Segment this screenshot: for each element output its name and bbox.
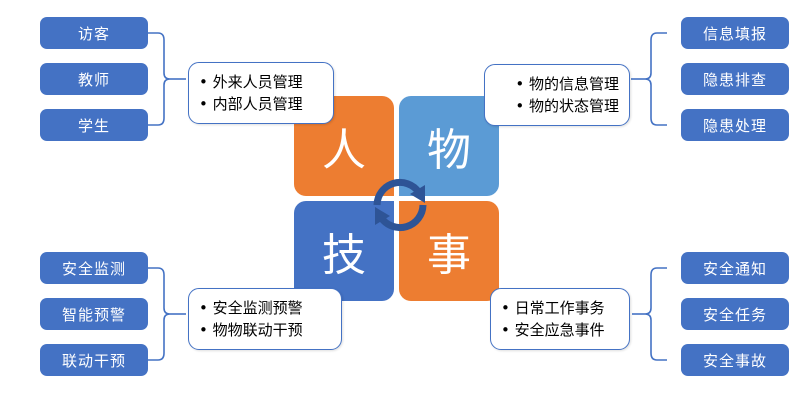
bullet-icon: • xyxy=(199,299,208,317)
button-visitor[interactable]: 访客 xyxy=(40,17,148,49)
callout-ji: • 安全监测预警 • 物物联动干预 xyxy=(188,288,342,350)
bullet-icon: • xyxy=(515,97,524,115)
callout-ren-text-1: 外来人员管理 xyxy=(213,73,303,91)
callout-ji-item-1: • 安全监测预警 xyxy=(199,298,331,320)
button-hazard-inspection[interactable]: 隐患排查 xyxy=(681,63,789,95)
bullet-icon: • xyxy=(501,299,510,317)
button-info-report[interactable]: 信息填报 xyxy=(681,17,789,49)
tile-ren-label: 人 xyxy=(322,114,366,178)
bullet-icon: • xyxy=(199,95,208,113)
callout-ren-item-1: • 外来人员管理 xyxy=(199,72,323,94)
callout-shi-item-1: • 日常工作事务 xyxy=(501,298,619,320)
callout-wu-text-2: 物的状态管理 xyxy=(529,97,619,115)
circular-arrows-icon xyxy=(367,172,433,238)
callout-ji-item-2: • 物物联动干预 xyxy=(199,320,331,342)
button-student[interactable]: 学生 xyxy=(40,109,148,141)
button-smart-alert[interactable]: 智能预警 xyxy=(40,298,148,330)
callout-wu-item-1: • 物的信息管理 xyxy=(495,74,619,96)
tile-wu-label: 物 xyxy=(427,114,471,178)
callout-ren: • 外来人员管理 • 内部人员管理 xyxy=(188,62,334,124)
callout-shi: • 日常工作事务 • 安全应急事件 xyxy=(490,288,630,350)
tile-ji-label: 技 xyxy=(322,219,366,283)
callout-ji-text-2: 物物联动干预 xyxy=(213,321,303,339)
button-linked-intervention[interactable]: 联动干预 xyxy=(40,344,148,376)
button-safety-accident[interactable]: 安全事故 xyxy=(681,344,789,376)
button-safety-task[interactable]: 安全任务 xyxy=(681,298,789,330)
button-safety-monitoring[interactable]: 安全监测 xyxy=(40,252,148,284)
bullet-icon: • xyxy=(515,75,524,93)
callout-ren-item-2: • 内部人员管理 xyxy=(199,94,323,116)
tile-shi-label: 事 xyxy=(427,219,471,283)
callout-wu-text-1: 物的信息管理 xyxy=(529,75,619,93)
callout-wu-item-2: • 物的状态管理 xyxy=(495,96,619,118)
bullet-icon: • xyxy=(501,321,510,339)
button-safety-notice[interactable]: 安全通知 xyxy=(681,252,789,284)
button-hazard-handling[interactable]: 隐患处理 xyxy=(681,109,789,141)
callout-ji-text-1: 安全监测预警 xyxy=(213,299,303,317)
callout-ren-text-2: 内部人员管理 xyxy=(213,95,303,113)
button-teacher[interactable]: 教师 xyxy=(40,63,148,95)
callout-shi-item-2: • 安全应急事件 xyxy=(501,320,619,342)
bullet-icon: • xyxy=(199,73,208,91)
callout-shi-text-1: 日常工作事务 xyxy=(515,299,605,317)
callout-shi-text-2: 安全应急事件 xyxy=(515,321,605,339)
bullet-icon: • xyxy=(199,321,208,339)
callout-wu: • 物的信息管理 • 物的状态管理 xyxy=(484,64,630,126)
diagram-canvas: 人 物 技 事 • 外来人员管理 • 内部人员管理 • 物的信息管理 • xyxy=(0,0,811,414)
